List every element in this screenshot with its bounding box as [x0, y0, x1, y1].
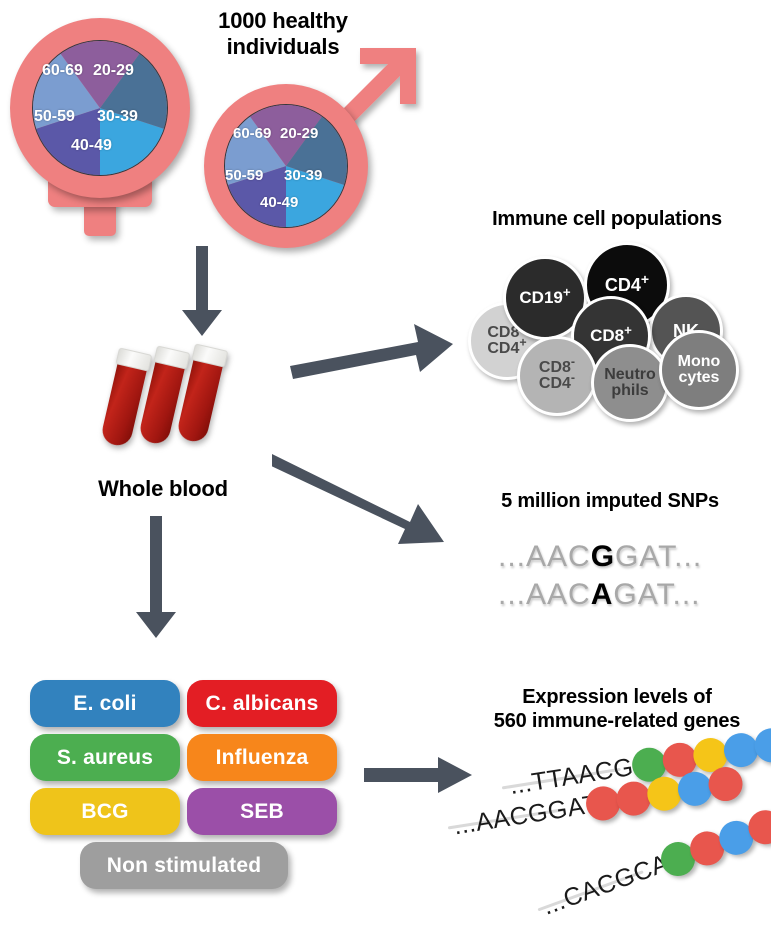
stimulus-non-stimulated[interactable]: Non stimulated — [80, 842, 288, 889]
female-gender-symbol: 20-29 30-39 40-49 50-59 60-69 — [10, 18, 190, 228]
female-pie-label-40-49: 40-49 — [71, 137, 112, 155]
snp-sequence-allele-2: ...AACAGAT... — [498, 578, 701, 612]
snp-suffix: GAT... — [615, 540, 702, 573]
immune-cell-label: CD8-CD4- — [539, 360, 575, 393]
immune-cell-Monocytes: Monocytes — [659, 330, 739, 410]
stimulus-seb[interactable]: SEB — [187, 788, 337, 835]
figure-canvas: 1000 healthy individuals 20-29 30-39 40-… — [0, 0, 771, 922]
stimulus-influenza[interactable]: Influenza — [187, 734, 337, 781]
snp-sequence-allele-1: ...AACGGAT... — [498, 540, 702, 574]
stimulus-s-aureus[interactable]: S. aureus — [30, 734, 180, 781]
male-gender-symbol: 20-29 30-39 40-49 50-59 60-69 — [204, 84, 424, 254]
strand-sequence: ...AACGGAT — [452, 790, 601, 842]
female-pie-label-20-29: 20-29 — [93, 62, 134, 80]
expression-title-line-1: Expression levels of — [467, 686, 767, 710]
whole-blood-tubes — [110, 340, 270, 460]
male-pie-label-50-59: 50-59 — [225, 167, 263, 184]
snp-variant-base: G — [591, 540, 615, 573]
cohort-title-line-1: 1000 healthy — [183, 8, 383, 34]
immune-cell-populations-title: Immune cell populations — [452, 208, 762, 232]
gene-bead — [706, 765, 745, 804]
stimulus-e-coli[interactable]: E. coli — [30, 680, 180, 727]
female-pie-label-50-59: 50-59 — [34, 108, 75, 126]
whole-blood-label: Whole blood — [78, 476, 248, 502]
stimulus-bcg[interactable]: BCG — [30, 788, 180, 835]
immune-cell-label: CD19+ — [519, 289, 570, 307]
female-pie-label-30-39: 30-39 — [97, 108, 138, 126]
arrow-blood-to-immune-cells — [290, 322, 455, 382]
stimulus-c-albicans[interactable]: C. albicans — [187, 680, 337, 727]
snp-suffix: GAT... — [613, 578, 700, 611]
snp-prefix: ...AAC — [498, 540, 591, 573]
arrow-blood-to-snps — [272, 450, 447, 550]
snp-prefix: ...AAC — [498, 578, 591, 611]
immune-cell-label: CD8+ — [590, 327, 632, 345]
male-pie-label-40-49: 40-49 — [260, 194, 298, 211]
immune-cell-label: Neutrophils — [604, 367, 656, 400]
expression-title: Expression levels of 560 immune-related … — [467, 686, 767, 733]
immune-cell-Neutrophils: Neutrophils — [591, 344, 669, 422]
arrow-down-blood-to-stimuli — [132, 516, 180, 640]
snp-variant-base: A — [591, 578, 614, 611]
immune-cell-label: Monocytes — [678, 354, 721, 387]
stimuli-panel: E. coli C. albicans S. aureus Influenza … — [30, 680, 350, 895]
male-pie-label-30-39: 30-39 — [284, 167, 322, 184]
female-pie-label-60-69: 60-69 — [42, 62, 83, 80]
arrow-down-cohort-to-blood — [178, 246, 226, 338]
immune-cell-CD8-CD4-: CD8-CD4- — [517, 336, 597, 416]
snps-title: 5 million imputed SNPs — [465, 490, 755, 514]
gene-expression-strands: ...TTAACGG ...AACGGAT ...CACGCAA — [430, 730, 771, 920]
male-pie-label-60-69: 60-69 — [233, 125, 271, 142]
male-pie-label-20-29: 20-29 — [280, 125, 318, 142]
immune-cell-label: CD4+ — [605, 276, 649, 295]
immune-cell-cluster: CD8+CD4+ CD19+ CD4+ NK CD8+ CD8-CD4- Neu… — [455, 240, 755, 415]
